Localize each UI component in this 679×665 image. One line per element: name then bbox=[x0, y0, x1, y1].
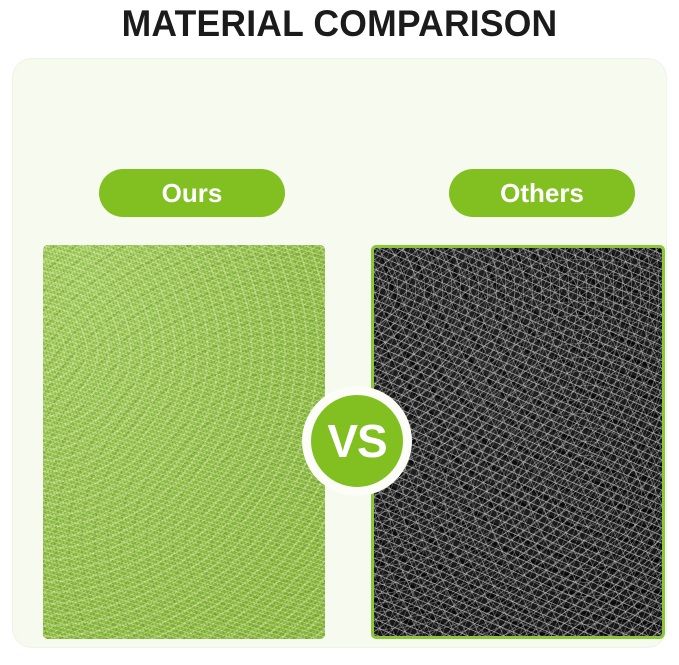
green-fiber-pattern bbox=[43, 245, 325, 639]
vs-badge: VS bbox=[302, 386, 412, 496]
dark-fiber-texture bbox=[374, 248, 662, 636]
material-swatch-others bbox=[371, 245, 665, 639]
vs-badge-label: VS bbox=[327, 418, 386, 464]
dark-fiber-pattern bbox=[374, 248, 662, 636]
comparison-card: Ours Others VS HIGH DENSITY SPARSE CPRD bbox=[12, 58, 667, 648]
material-comparison-poster: MATERIAL COMPARISON Ours Others VS HIGH … bbox=[0, 0, 679, 665]
green-fiber-texture bbox=[43, 245, 325, 639]
badge-others: Others bbox=[449, 169, 635, 217]
badge-ours-label: Ours bbox=[162, 180, 223, 206]
badge-others-label: Others bbox=[500, 180, 584, 206]
material-swatch-ours bbox=[43, 245, 325, 639]
badge-ours: Ours bbox=[99, 169, 285, 217]
page-title: MATERIAL COMPARISON bbox=[14, 2, 666, 46]
